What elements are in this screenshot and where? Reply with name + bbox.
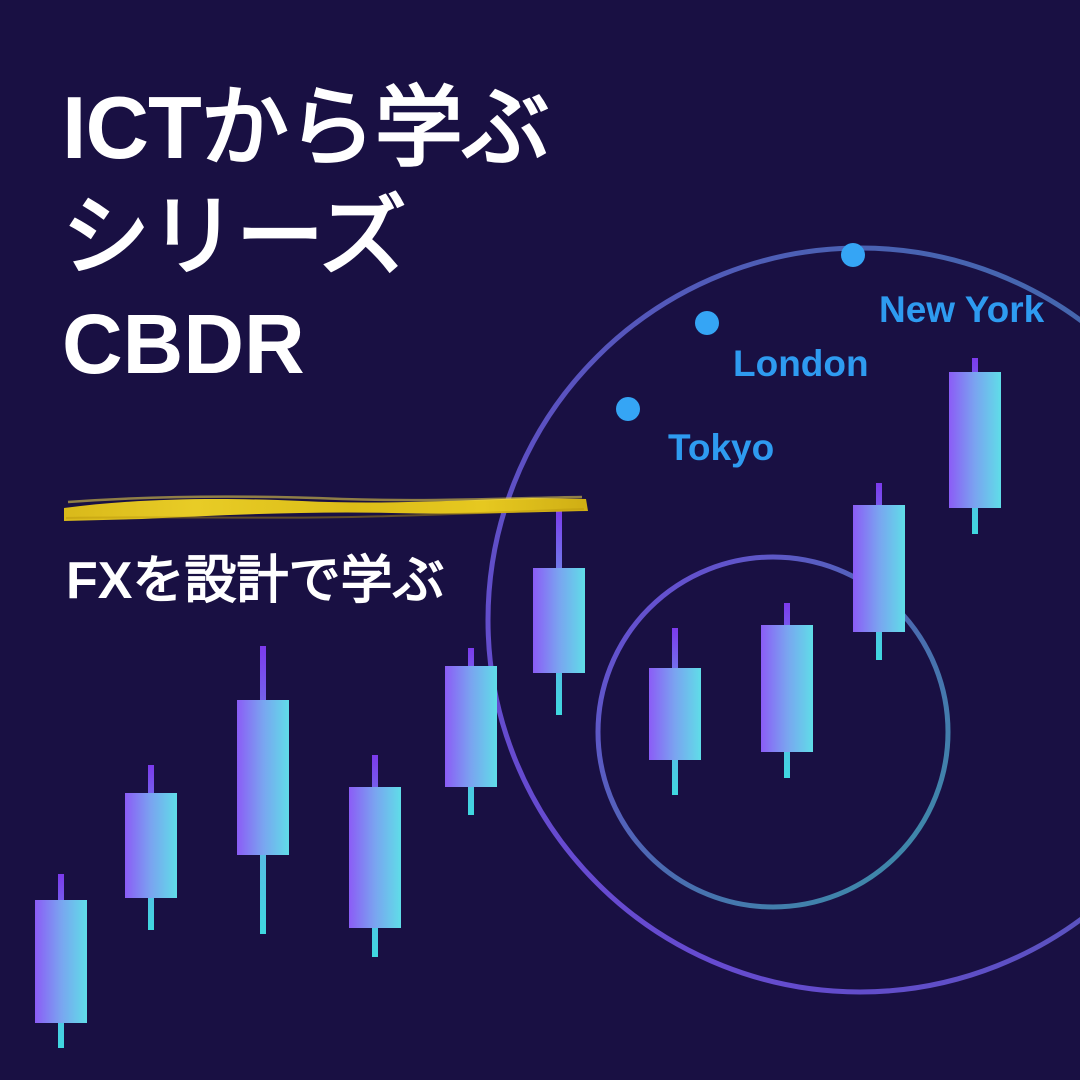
candle-body — [649, 668, 701, 760]
candle-body — [349, 787, 401, 928]
candle-body — [445, 666, 497, 787]
yellow-brush-stroke — [62, 489, 590, 529]
session-label-tokyo: Tokyo — [668, 429, 774, 466]
candle-body — [949, 372, 1001, 508]
poster-canvas: ICTから学ぶ シリーズ CBDR FXを — [0, 0, 1080, 1080]
session-label-london: London — [733, 345, 869, 382]
candle-body — [35, 900, 87, 1023]
session-dot-tokyo — [616, 397, 640, 421]
page-title: ICTから学ぶ シリーズ CBDR — [62, 74, 702, 395]
candle-body — [237, 700, 289, 855]
candle-body — [125, 793, 177, 898]
subtitle: FXを設計で学ぶ — [66, 550, 444, 612]
session-label-new-york: New York — [879, 291, 1044, 328]
candle-body — [853, 505, 905, 632]
candle-body — [761, 625, 813, 752]
title-line-3: CBDR — [62, 293, 702, 395]
candle-body — [533, 568, 585, 673]
session-dot-new-york — [841, 243, 865, 267]
title-line-2: シリーズ — [62, 183, 702, 290]
title-line-1: ICTから学ぶ — [62, 74, 702, 181]
